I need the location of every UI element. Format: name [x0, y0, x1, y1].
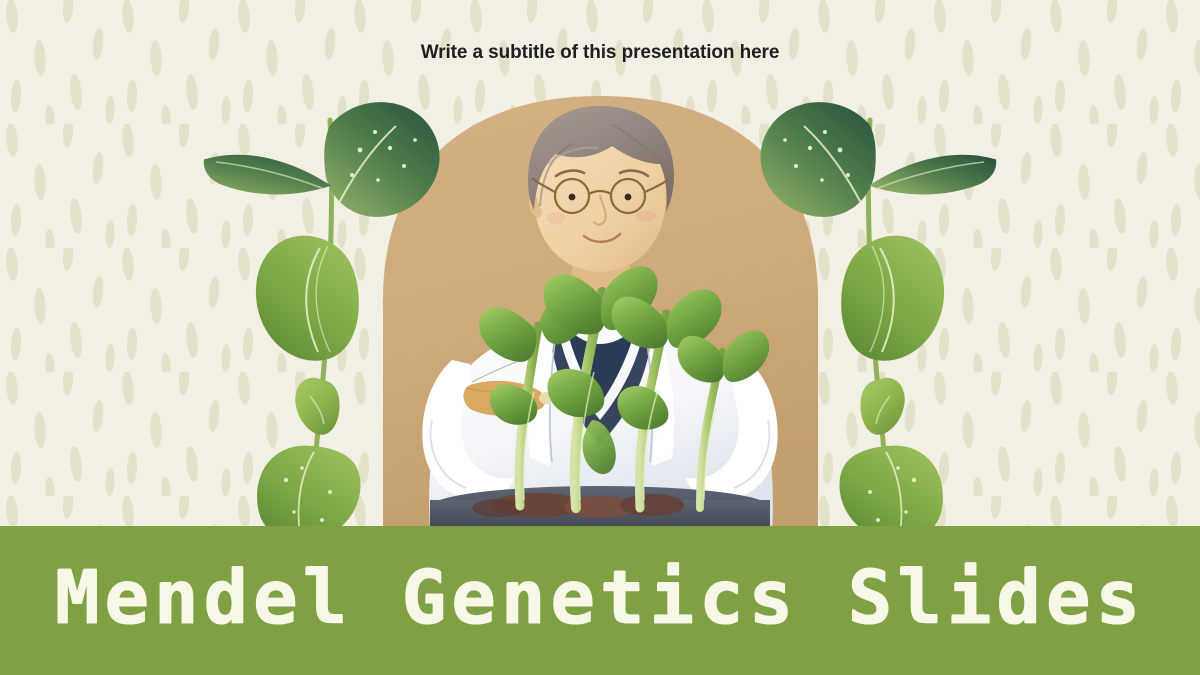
title-banner: Mendel Genetics Slides: [0, 526, 1200, 675]
slide-title: Mendel Genetics Slides: [0, 526, 1200, 675]
seedling-tray: [430, 486, 770, 528]
presentation-slide: Write a subtitle of this presentation he…: [0, 0, 1200, 675]
slide-subtitle: Write a subtitle of this presentation he…: [0, 42, 1200, 64]
